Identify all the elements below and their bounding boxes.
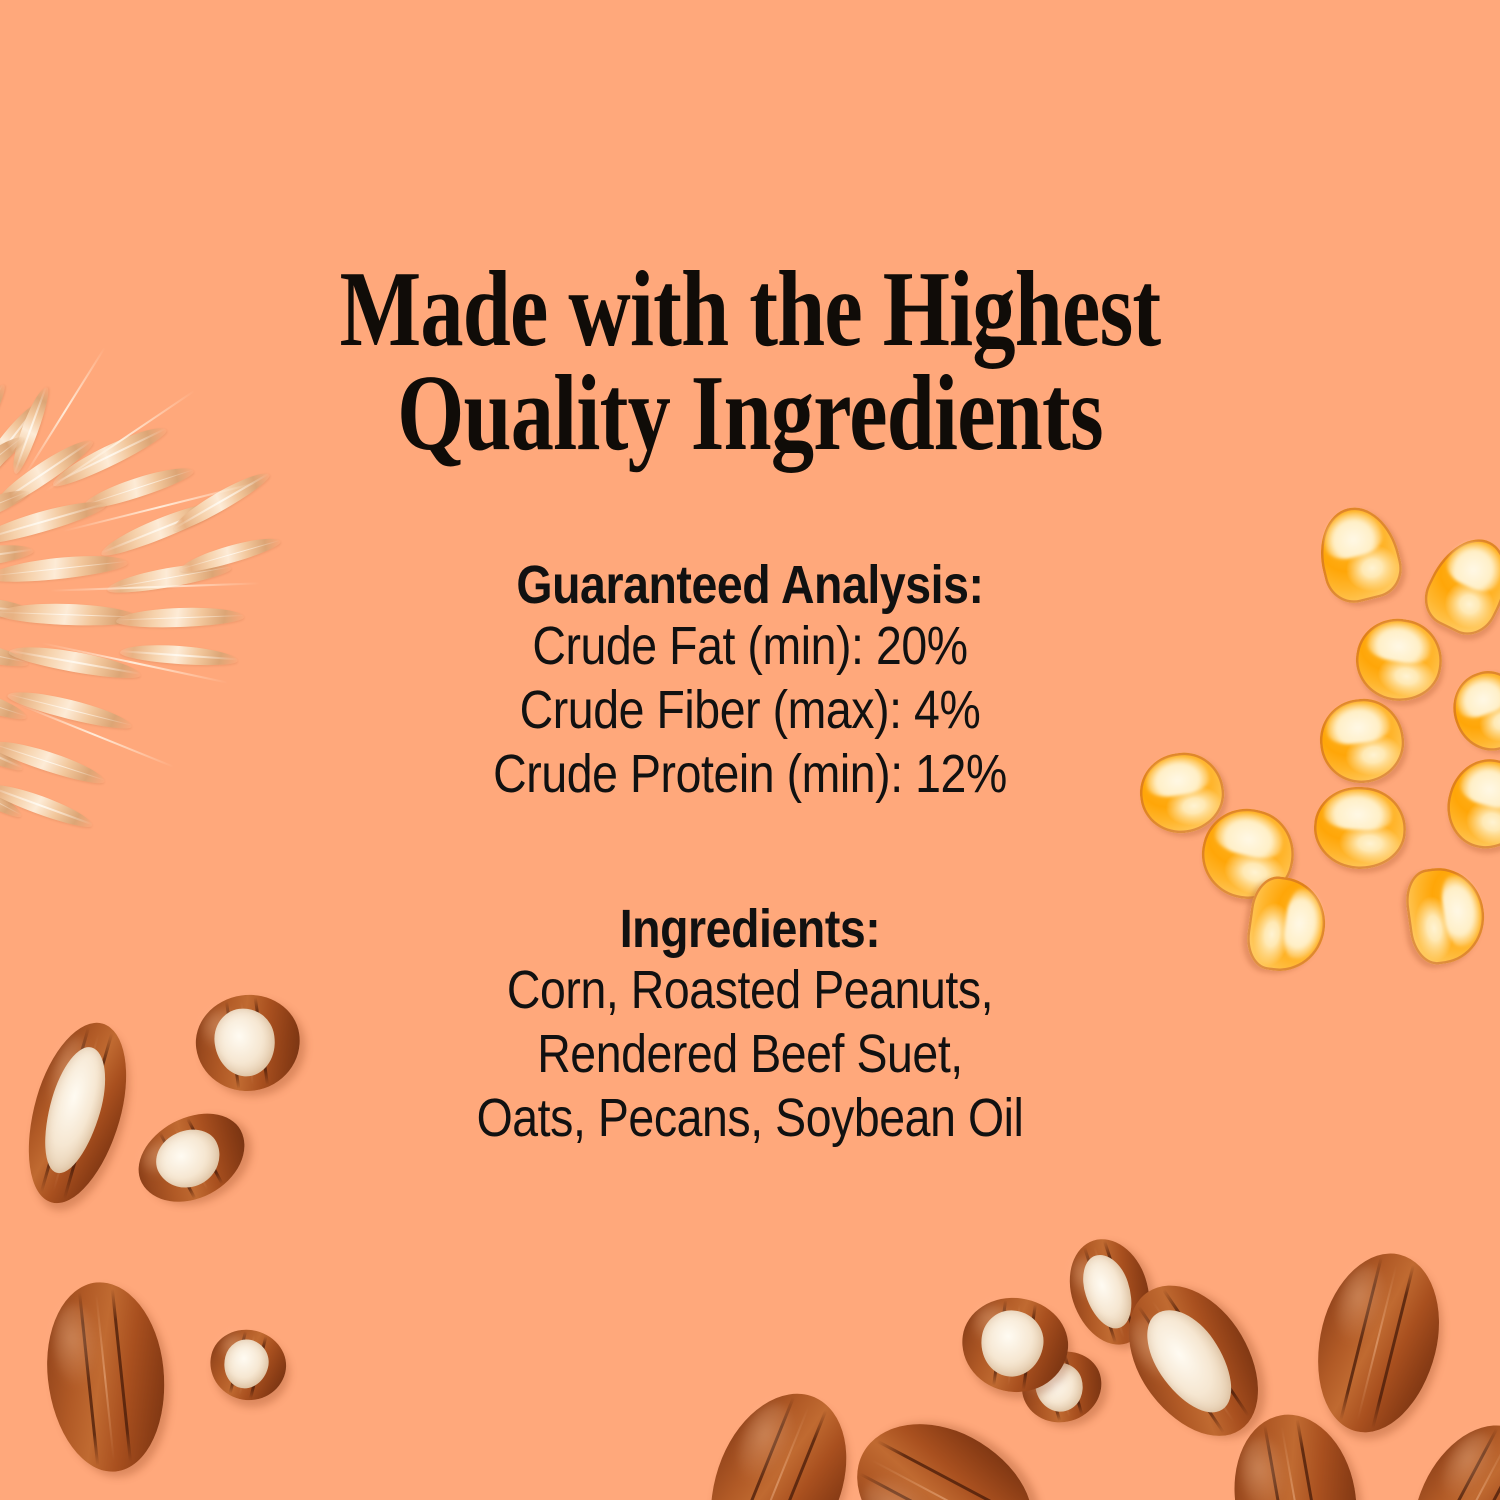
- ingredients-line-1: Corn, Roasted Peanuts,: [105, 958, 1395, 1022]
- pecan-piece: [1014, 1342, 1110, 1431]
- pecan-piece: [956, 1291, 1074, 1399]
- pecan-piece: [203, 1322, 294, 1408]
- pecan-half: [685, 1374, 871, 1500]
- pecan-half: [38, 1276, 173, 1477]
- pecan-half: [1103, 1262, 1285, 1460]
- pecan-half: [1300, 1241, 1457, 1446]
- infographic-canvas: Made with the Highest Quality Ingredient…: [0, 0, 1500, 1500]
- guaranteed-analysis-heading: Guaranteed Analysis:: [105, 556, 1395, 614]
- page-title: Made with the Highest Quality Ingredient…: [150, 258, 1350, 466]
- guaranteed-analysis-section: Guaranteed Analysis: Crude Fat (min): 20…: [0, 556, 1500, 806]
- ingredients-line-3: Oats, Pecans, Soybean Oil: [105, 1086, 1395, 1150]
- pecan-half: [1387, 1404, 1500, 1500]
- guaranteed-analysis-crude-fat: Crude Fat (min): 20%: [105, 614, 1395, 678]
- pecan-half: [1222, 1405, 1371, 1500]
- ingredients-section: Ingredients: Corn, Roasted Peanuts, Rend…: [0, 900, 1500, 1150]
- headline-line-2: Quality Ingredients: [150, 362, 1350, 466]
- ingredients-line-2: Rendered Beef Suet,: [105, 1022, 1395, 1086]
- guaranteed-analysis-crude-protein: Crude Protein (min): 12%: [105, 742, 1395, 806]
- pecan-piece: [1057, 1229, 1163, 1355]
- guaranteed-analysis-crude-fiber: Crude Fiber (max): 4%: [105, 678, 1395, 742]
- headline-line-1: Made with the Highest: [150, 258, 1350, 362]
- pecan-half: [832, 1396, 1057, 1500]
- ingredients-heading: Ingredients:: [105, 900, 1395, 958]
